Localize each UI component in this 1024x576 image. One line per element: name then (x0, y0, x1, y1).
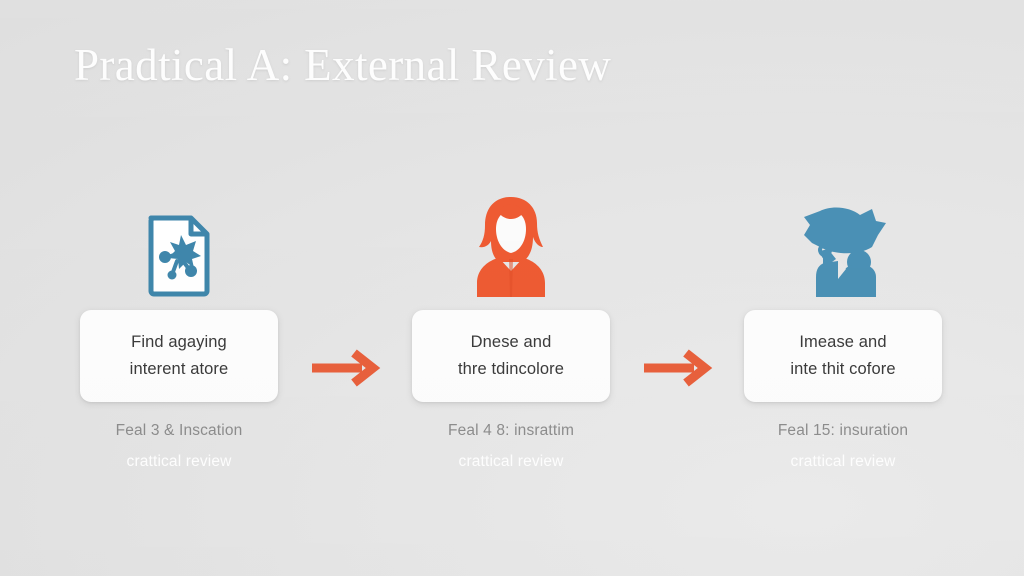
step-1-caption-main: Feal 3 & Inscation (64, 419, 294, 443)
slide-canvas: Pradtical A: External Review (0, 0, 1024, 576)
step-3-caption-main: Feal 15: insuration (728, 419, 958, 443)
step-3-caption-sub: crattical review (728, 450, 958, 474)
step-3-card-text: Imease and inte thit cofore (790, 329, 895, 383)
step-2-caption: Feal 4 8: insrattim crattical review (396, 419, 626, 474)
step-1-caption: Feal 3 & Inscation crattical review (64, 419, 294, 474)
step-2-card[interactable]: Dnese and thre tdincolore (412, 310, 610, 402)
flow-step-2[interactable]: Dnese and thre tdincolore Feal 4 8: insr… (396, 190, 626, 500)
team-banner-icon (798, 207, 888, 304)
step-3-card[interactable]: Imease and inte thit cofore (744, 310, 942, 402)
step-2-caption-sub: crattical review (396, 450, 626, 474)
step-2-icon-wrap (396, 190, 626, 310)
arrow-right-1 (310, 348, 382, 388)
step-2-card-line2: thre tdincolore (458, 356, 564, 383)
process-flow: Find agaying interent atore Feal 3 & Ins… (0, 190, 1024, 510)
step-1-card-line1: Find agaying (130, 329, 229, 356)
arrow-right-2 (642, 348, 714, 388)
flow-step-3[interactable]: Imease and inte thit cofore Feal 15: ins… (728, 190, 958, 500)
step-1-card[interactable]: Find agaying interent atore (80, 310, 278, 402)
step-1-caption-sub: crattical review (64, 450, 294, 474)
step-2-caption-main: Feal 4 8: insrattim (396, 419, 626, 443)
page-title: Pradtical A: External Review (74, 36, 611, 94)
flow-step-1[interactable]: Find agaying interent atore Feal 3 & Ins… (64, 190, 294, 500)
document-network-icon (144, 213, 214, 304)
step-3-icon-wrap (728, 190, 958, 310)
step-3-card-line2: inte thit cofore (790, 356, 895, 383)
step-1-card-line2: interent atore (130, 356, 229, 383)
step-1-card-text: Find agaying interent atore (130, 329, 229, 383)
step-2-card-text: Dnese and thre tdincolore (458, 329, 564, 383)
step-3-caption: Feal 15: insuration crattical review (728, 419, 958, 474)
step-3-card-line1: Imease and (790, 329, 895, 356)
step-2-card-line1: Dnese and (458, 329, 564, 356)
person-woman-icon (465, 195, 557, 304)
step-1-icon-wrap (64, 190, 294, 310)
